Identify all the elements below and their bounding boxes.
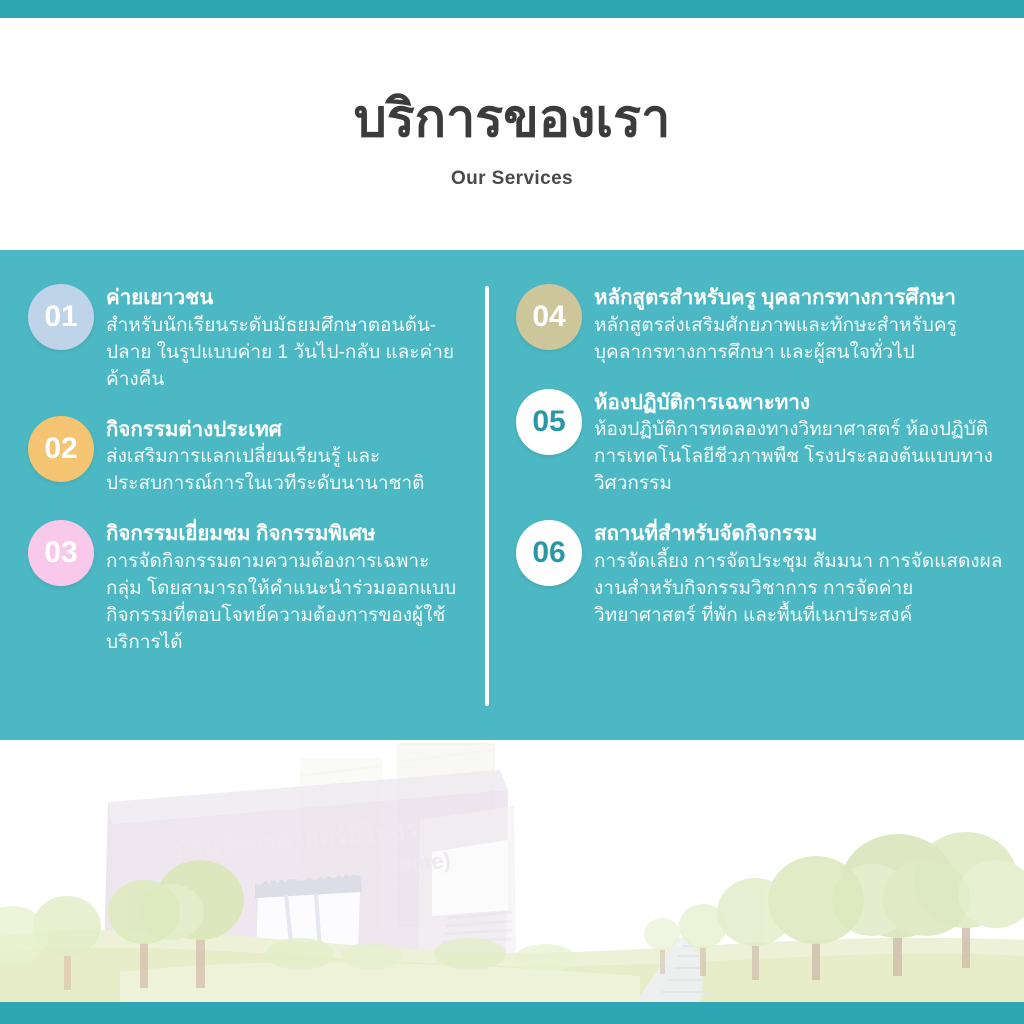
service-text-06: สถานที่สำหรับจัดกิจกรรม การจัดเลี้ยง การ…	[594, 516, 1006, 630]
column-divider	[485, 286, 489, 706]
service-description-06: การจัดเลี้ยง การจัดประชุม สัมมนา การจัดแ…	[594, 549, 1006, 630]
service-description-04: หลักสูตรส่งเสริมศักยภาพและทักษะสำหรับครู…	[594, 313, 1006, 367]
campus-illustration-svg: บ้านวิทยาศาสตร์สิรินธร (Sirindhorn Scien…	[0, 740, 1024, 1002]
campus-illustration: บ้านวิทยาศาสตร์สิรินธร (Sirindhorn Scien…	[0, 740, 1024, 1002]
service-number-06: 06	[532, 536, 565, 570]
service-item-03[interactable]: 03 กิจกรรมเยี่ยมชม กิจกรรมพิเศษ การจัดกิ…	[28, 516, 458, 657]
service-number-badge-02: 02	[28, 416, 94, 482]
service-number-badge-06: 06	[516, 520, 582, 586]
service-text-01: ค่ายเยาวชน สำหรับนักเรียนระดับมัธยมศึกษา…	[106, 280, 458, 394]
services-right-column: 04 หลักสูตรสำหรับครู บุคลากรทางการศึกษา …	[516, 280, 1006, 648]
service-number-01: 01	[44, 300, 77, 334]
services-panel: 01 ค่ายเยาวชน สำหรับนักเรียนระดับมัธยมศึ…	[0, 250, 1024, 740]
service-title-05: ห้องปฏิบัติการเฉพาะทาง	[594, 389, 1006, 417]
page-subtitle: Our Services	[0, 150, 1024, 190]
bottom-accent-bar	[0, 1002, 1024, 1024]
service-title-03: กิจกรรมเยี่ยมชม กิจกรรมพิเศษ	[106, 520, 458, 548]
service-text-02: กิจกรรมต่างประเทศ ส่งเสริมการแลกเปลี่ยนเ…	[106, 412, 458, 499]
service-number-badge-05: 05	[516, 389, 582, 455]
service-title-04: หลักสูตรสำหรับครู บุคลากรทางการศึกษา	[594, 284, 1006, 312]
service-number-badge-03: 03	[28, 520, 94, 586]
service-item-04[interactable]: 04 หลักสูตรสำหรับครู บุคลากรทางการศึกษา …	[516, 280, 1006, 367]
page-title: บริการของเรา	[0, 18, 1024, 150]
service-text-05: ห้องปฏิบัติการเฉพาะทาง ห้องปฏิบัติการทดล…	[594, 385, 1006, 499]
service-number-02: 02	[44, 432, 77, 466]
service-description-05: ห้องปฏิบัติการทดลองทางวิทยาศาสตร์ ห้องปฏ…	[594, 417, 1006, 498]
service-title-01: ค่ายเยาวชน	[106, 284, 458, 312]
service-number-04: 04	[532, 300, 565, 334]
services-left-column: 01 ค่ายเยาวชน สำหรับนักเรียนระดับมัธยมศึ…	[28, 280, 458, 675]
service-item-01[interactable]: 01 ค่ายเยาวชน สำหรับนักเรียนระดับมัธยมศึ…	[28, 280, 458, 394]
service-description-03: การจัดกิจกรรมตามความต้องการเฉพาะกลุ่ม โด…	[106, 549, 458, 657]
service-item-05[interactable]: 05 ห้องปฏิบัติการเฉพาะทาง ห้องปฏิบัติการ…	[516, 385, 1006, 499]
service-description-02: ส่งเสริมการแลกเปลี่ยนเรียนรู้ และประสบกา…	[106, 444, 458, 498]
service-item-06[interactable]: 06 สถานที่สำหรับจัดกิจกรรม การจัดเลี้ยง …	[516, 516, 1006, 630]
service-description-01: สำหรับนักเรียนระดับมัธยมศึกษาตอนต้น-ปลาย…	[106, 313, 458, 394]
service-number-badge-04: 04	[516, 284, 582, 350]
service-title-02: กิจกรรมต่างประเทศ	[106, 416, 458, 444]
header-section: บริการของเรา Our Services	[0, 18, 1024, 250]
service-number-05: 05	[532, 405, 565, 439]
service-item-02[interactable]: 02 กิจกรรมต่างประเทศ ส่งเสริมการแลกเปลี่…	[28, 412, 458, 499]
service-title-06: สถานที่สำหรับจัดกิจกรรม	[594, 520, 1006, 548]
service-number-03: 03	[44, 536, 77, 570]
service-number-badge-01: 01	[28, 284, 94, 350]
service-text-03: กิจกรรมเยี่ยมชม กิจกรรมพิเศษ การจัดกิจกร…	[106, 516, 458, 657]
service-text-04: หลักสูตรสำหรับครู บุคลากรทางการศึกษา หลั…	[594, 280, 1006, 367]
top-accent-bar	[0, 0, 1024, 18]
